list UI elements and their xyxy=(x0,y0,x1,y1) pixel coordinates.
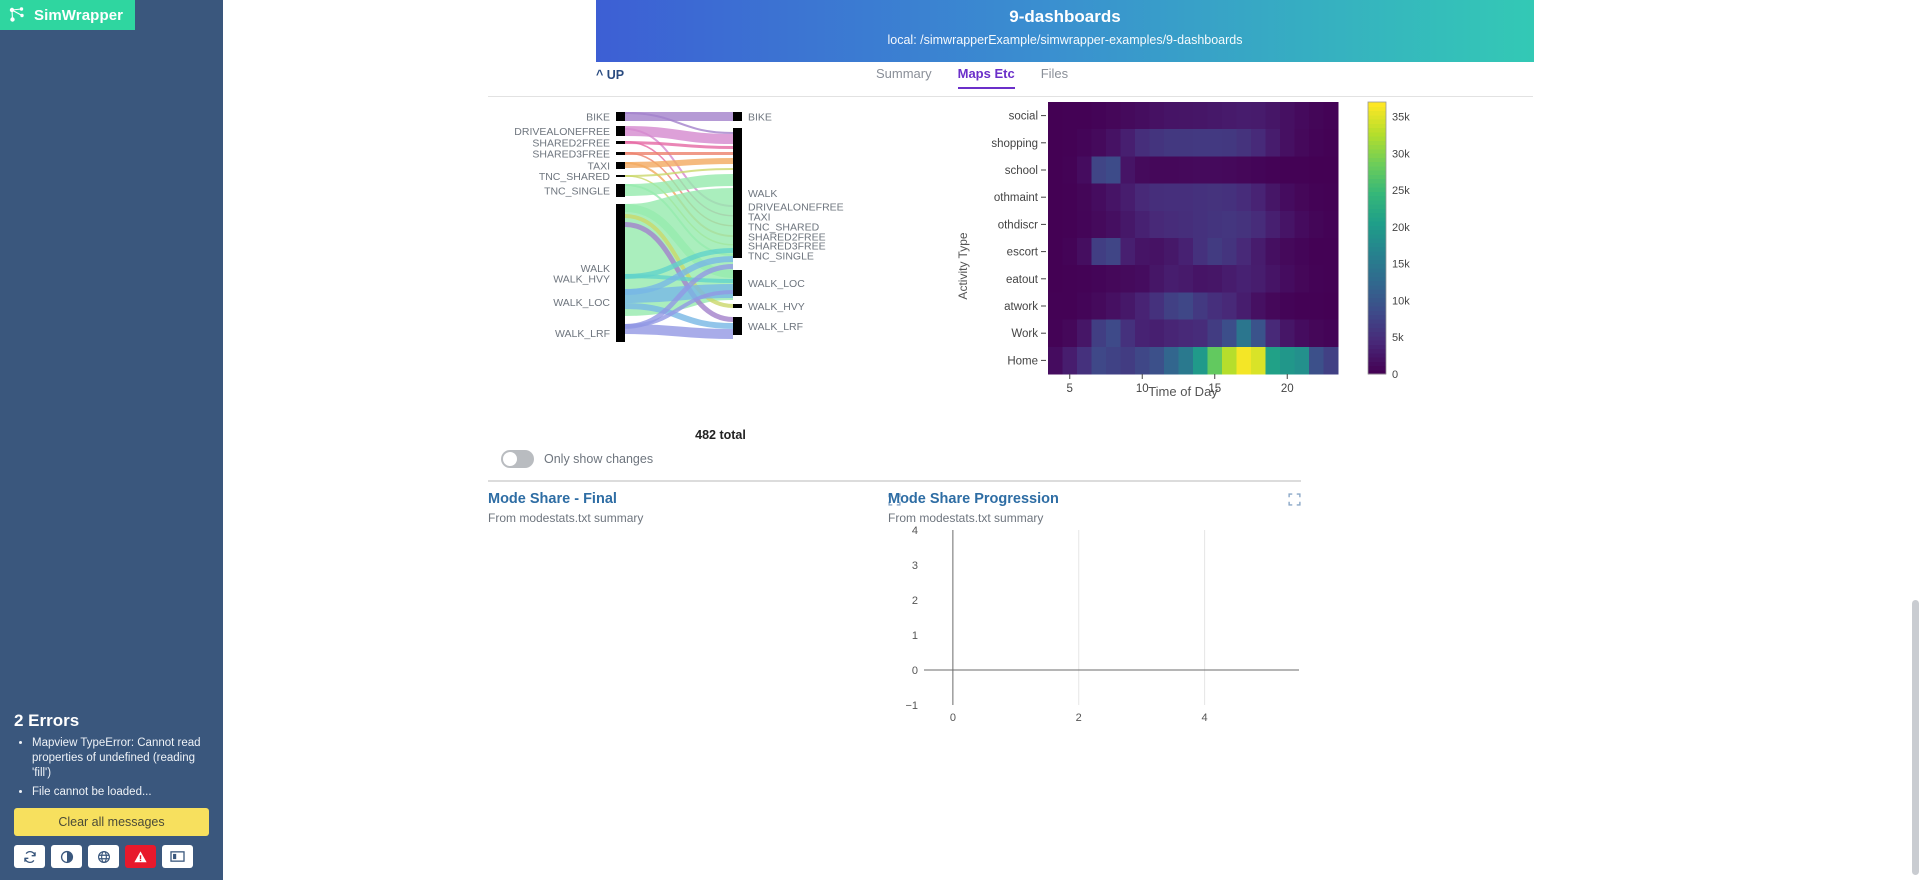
svg-text:2: 2 xyxy=(1076,712,1082,724)
card-title: Mode Share - Final xyxy=(488,491,643,507)
sankey-panel: BIKEDRIVEALONEFREESHARED2FREESHARED3FREE… xyxy=(488,96,953,406)
svg-text:othdiscr: othdiscr xyxy=(998,219,1038,231)
svg-text:school: school xyxy=(1005,165,1038,177)
svg-text:5: 5 xyxy=(1067,383,1073,395)
svg-text:Home: Home xyxy=(1007,355,1038,367)
svg-text:WALK: WALK xyxy=(748,188,777,200)
svg-text:20: 20 xyxy=(1281,383,1294,395)
sankey-diagram[interactable]: BIKEDRIVEALONEFREESHARED2FREESHARED3FREE… xyxy=(488,98,953,398)
svg-text:WALK_LOC: WALK_LOC xyxy=(748,278,805,290)
svg-text:othmaint: othmaint xyxy=(994,192,1039,204)
svg-text:−1: −1 xyxy=(905,700,918,712)
svg-text:15k: 15k xyxy=(1392,259,1410,271)
sankey-target-labels: BIKEWALKDRIVEALONEFREETAXITNC_SHAREDSHAR… xyxy=(748,112,844,334)
tab-bar: Summary Maps Etc Files xyxy=(876,66,1068,89)
svg-text:eatout: eatout xyxy=(1006,274,1039,286)
plot-gridlines xyxy=(924,530,1299,705)
svg-text:0: 0 xyxy=(1392,369,1398,381)
heatmap-x-axis-label: Time of Day xyxy=(1148,384,1218,399)
plot-x-tick-labels: 024 xyxy=(950,712,1208,724)
card-mode-share-progression: Mode Share Progression From modestats.tx… xyxy=(888,480,1301,525)
divider xyxy=(953,96,1533,97)
only-show-changes-toggle[interactable]: Only show changes xyxy=(501,450,653,468)
svg-text:shopping: shopping xyxy=(991,138,1038,150)
sidebar: SimWrapper 2 Errors Mapview TypeError: C… xyxy=(0,0,223,880)
tool-row xyxy=(14,845,209,868)
svg-text:WALK_LRF: WALK_LRF xyxy=(555,328,610,340)
warning-icon[interactable] xyxy=(125,845,156,868)
split-view-icon[interactable] xyxy=(162,845,193,868)
page-title: 9-dashboards xyxy=(596,0,1534,27)
svg-text:1: 1 xyxy=(912,630,918,642)
toggle-switch[interactable] xyxy=(501,450,534,468)
brand-label: SimWrapper xyxy=(34,7,123,24)
up-link[interactable]: ^ UP xyxy=(596,68,624,82)
network-nodes-icon xyxy=(8,6,26,24)
heatmap-colorbar: 05k10k15k20k25k30k35k xyxy=(1368,102,1410,381)
plot-y-tick-labels: −101234 xyxy=(905,525,918,712)
toggle-label: Only show changes xyxy=(544,452,653,466)
svg-text:4: 4 xyxy=(912,525,918,537)
card-subtitle: From modestats.txt summary xyxy=(488,507,643,525)
divider xyxy=(488,96,953,97)
sankey-target-nodes[interactable] xyxy=(733,112,742,335)
svg-text:0: 0 xyxy=(912,665,918,677)
svg-text:25k: 25k xyxy=(1392,185,1410,197)
card-title: Mode Share Progression xyxy=(888,491,1059,507)
card-mode-share-final: Mode Share - Final From modestats.txt su… xyxy=(488,480,901,525)
svg-text:atwork: atwork xyxy=(1004,301,1038,313)
sankey-total-label: 482 total xyxy=(488,428,953,442)
svg-text:TNC_SINGLE: TNC_SINGLE xyxy=(748,251,814,263)
tab-files[interactable]: Files xyxy=(1041,66,1068,87)
sankey-source-nodes[interactable] xyxy=(616,112,625,342)
svg-text:35k: 35k xyxy=(1392,112,1410,124)
svg-text:WALK_LRF: WALK_LRF xyxy=(748,321,803,333)
svg-text:4: 4 xyxy=(1202,712,1208,724)
list-item: Mapview TypeError: Cannot read propertie… xyxy=(32,736,209,782)
main-content: 9-dashboards local: /simwrapperExample/s… xyxy=(223,0,1920,880)
project-path: local: /simwrapperExample/simwrapper-exa… xyxy=(596,27,1534,47)
project-banner: 9-dashboards local: /simwrapperExample/s… xyxy=(596,0,1534,62)
svg-text:20k: 20k xyxy=(1392,222,1410,234)
tab-summary[interactable]: Summary xyxy=(876,66,932,87)
heatmap-panel: socialshoppingschoolothmaintothdiscresco… xyxy=(953,96,1533,426)
svg-text:30k: 30k xyxy=(1392,148,1410,160)
vertical-scrollbar[interactable] xyxy=(1912,600,1919,875)
error-panel: 2 Errors Mapview TypeError: Cannot read … xyxy=(0,711,223,880)
navbar: ^ UP Summary Maps Etc Files xyxy=(596,62,1534,94)
svg-text:DRIVEALONEFREE: DRIVEALONEFREE xyxy=(514,126,610,138)
svg-text:5k: 5k xyxy=(1392,332,1404,344)
globe-icon[interactable] xyxy=(88,845,119,868)
clear-all-messages-button[interactable]: Clear all messages xyxy=(14,808,209,836)
toggle-knob xyxy=(503,452,517,466)
svg-text:WALK_HVY: WALK_HVY xyxy=(553,274,610,286)
list-item: File cannot be loaded... xyxy=(32,785,209,800)
svg-text:Work: Work xyxy=(1011,328,1038,340)
refresh-icon[interactable] xyxy=(14,845,45,868)
svg-text:SHARED3FREE: SHARED3FREE xyxy=(532,149,610,161)
svg-text:0: 0 xyxy=(950,712,956,724)
svg-text:escort: escort xyxy=(1007,247,1039,259)
svg-text:2: 2 xyxy=(912,595,918,607)
tab-maps-etc[interactable]: Maps Etc xyxy=(958,66,1015,89)
brand-logo[interactable]: SimWrapper xyxy=(0,0,135,30)
svg-text:BIKE: BIKE xyxy=(748,112,772,124)
svg-text:TNC_SHARED: TNC_SHARED xyxy=(539,171,611,183)
contrast-icon[interactable] xyxy=(51,845,82,868)
svg-text:social: social xyxy=(1009,111,1038,123)
mode-share-progression-plot[interactable]: −101234 024 xyxy=(888,520,1308,730)
expand-icon[interactable] xyxy=(1288,491,1301,511)
app-root: SimWrapper 2 Errors Mapview TypeError: C… xyxy=(0,0,1920,880)
heatmap-y-axis-label: Activity Type xyxy=(956,232,970,299)
sankey-source-labels: BIKEDRIVEALONEFREESHARED2FREESHARED3FREE… xyxy=(514,112,610,341)
error-list: Mapview TypeError: Cannot read propertie… xyxy=(32,736,209,800)
svg-text:WALK_LOC: WALK_LOC xyxy=(553,297,610,309)
svg-text:WALK_HVY: WALK_HVY xyxy=(748,301,805,313)
svg-text:10: 10 xyxy=(1136,383,1149,395)
svg-text:10k: 10k xyxy=(1392,295,1410,307)
svg-text:TNC_SINGLE: TNC_SINGLE xyxy=(544,186,610,198)
activity-heatmap[interactable]: socialshoppingschoolothmaintothdiscresco… xyxy=(953,96,1533,426)
svg-text:3: 3 xyxy=(912,560,918,572)
heatmap-cells xyxy=(1048,102,1339,375)
error-count-title: 2 Errors xyxy=(14,711,209,731)
svg-text:BIKE: BIKE xyxy=(586,112,610,124)
sankey-links xyxy=(625,113,733,334)
heatmap-y-tick-labels: socialshoppingschoolothmaintothdiscresco… xyxy=(991,111,1046,368)
